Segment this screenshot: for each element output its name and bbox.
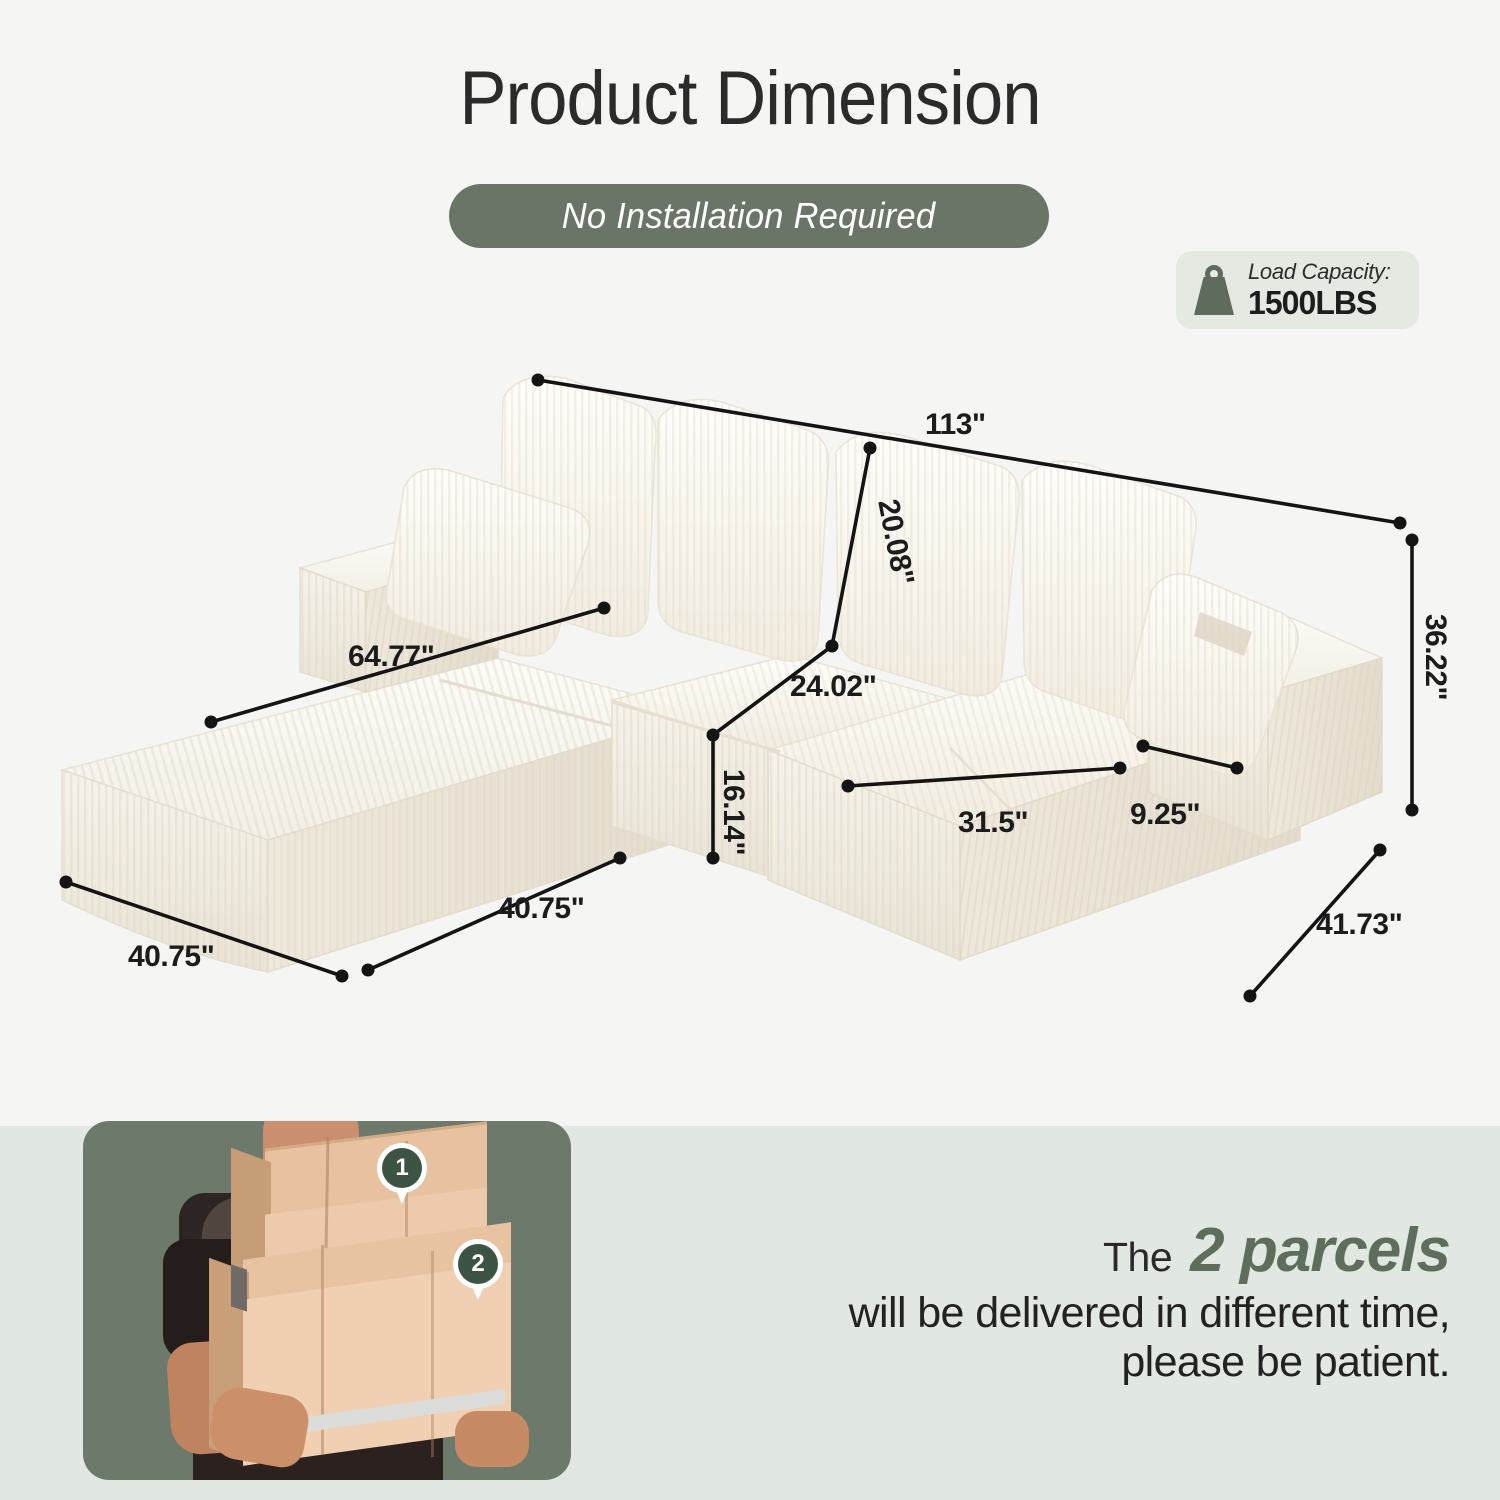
delivery-message-highlight: 2 parcels bbox=[1190, 1216, 1450, 1285]
dimension-label-chaise-depth-front: 40.75" bbox=[128, 940, 214, 974]
weight-icon bbox=[1192, 265, 1236, 315]
dimension-label-arm-width: 9.25" bbox=[1130, 798, 1200, 832]
delivery-message: The2 parcels will be delivered in differ… bbox=[640, 1216, 1450, 1386]
parcel-two-crease-2 bbox=[431, 1251, 434, 1457]
dimension-label-seat-width: 31.5" bbox=[958, 806, 1028, 840]
delivery-photo: 1 2 bbox=[83, 1121, 571, 1480]
infographic-page: Product Dimension No Installation Requir… bbox=[0, 0, 1500, 1500]
parcel-tape bbox=[231, 1264, 247, 1311]
delivery-message-line-2: will be delivered in different time, bbox=[640, 1289, 1450, 1337]
dimension-label-overall-height: 36.22" bbox=[1418, 614, 1452, 700]
load-capacity-label: Load Capacity: bbox=[1248, 261, 1391, 283]
dimension-label-sofa-depth: 41.73" bbox=[1316, 908, 1402, 942]
load-capacity-text: Load Capacity: 1500LBS bbox=[1248, 261, 1391, 319]
load-capacity-badge: Load Capacity: 1500LBS bbox=[1176, 251, 1419, 329]
parcel-pin-2: 2 bbox=[453, 1239, 503, 1303]
delivery-message-the: The bbox=[1103, 1234, 1172, 1280]
parcel-pin-2-number: 2 bbox=[458, 1244, 498, 1284]
delivery-message-line-1: The2 parcels bbox=[640, 1216, 1450, 1285]
no-installation-badge: No Installation Required bbox=[449, 184, 1049, 248]
dimension-label-chaise-length: 64.77" bbox=[348, 640, 434, 674]
parcel-pin-1-number: 1 bbox=[382, 1148, 422, 1188]
dimension-label-seat-depth: 24.02" bbox=[790, 670, 876, 704]
dimension-label-overall-width: 113" bbox=[925, 408, 986, 442]
delivery-person-hand-right bbox=[455, 1411, 529, 1467]
dimension-label-chaise-depth-side: 40.75" bbox=[498, 892, 584, 926]
load-capacity-value: 1500LBS bbox=[1248, 286, 1386, 319]
delivery-photo-content: 1 2 bbox=[83, 1121, 571, 1480]
sofa-dimension-diagram: 113" 36.22" 20.08" 24.02" 16.14" 64.77" … bbox=[0, 340, 1500, 1040]
dimension-label-seat-height: 16.14" bbox=[716, 769, 750, 855]
delivery-message-line-3: please be patient. bbox=[640, 1338, 1450, 1386]
sofa-illustration bbox=[0, 340, 1500, 1040]
no-installation-badge-label: No Installation Required bbox=[562, 195, 935, 237]
parcel-pin-1: 1 bbox=[377, 1143, 427, 1207]
page-title: Product Dimension bbox=[53, 55, 1448, 142]
